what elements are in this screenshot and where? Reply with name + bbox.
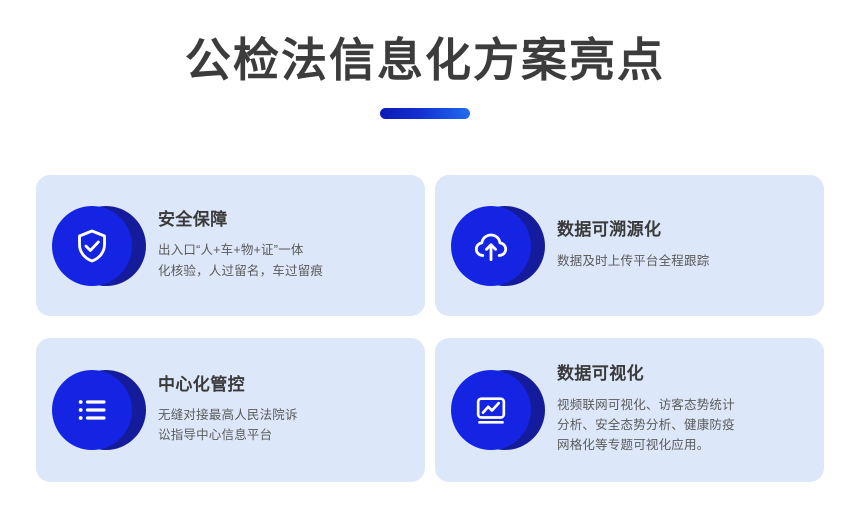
card-description: 出入口“人+车+物+证”一体 化核验，人过留名，车过留痕 <box>158 240 323 281</box>
card-title: 安全保障 <box>158 210 323 230</box>
card-text: 数据可溯源化 数据及时上传平台全程跟踪 <box>557 220 719 271</box>
card-text: 安全保障 出入口“人+车+物+证”一体 化核验，人过留名，车过留痕 <box>158 210 333 281</box>
feature-card-security[interactable]: 安全保障 出入口“人+车+物+证”一体 化核验，人过留名，车过留痕 <box>36 175 425 316</box>
chart-monitor-icon <box>471 390 511 430</box>
icon-front-circle <box>52 206 132 286</box>
card-text: 数据可视化 视频联网可视化、访客态势统计 分析、安全态势分析、健康防疫 网格化等… <box>557 364 745 455</box>
icon-badge <box>52 204 140 288</box>
icon-front-circle <box>52 370 132 450</box>
feature-cards-grid: 安全保障 出入口“人+车+物+证”一体 化核验，人过留名，车过留痕 数据可溯源化… <box>36 175 824 482</box>
card-description: 数据及时上传平台全程跟踪 <box>557 251 709 271</box>
icon-badge <box>451 368 539 452</box>
feature-card-data-traceability[interactable]: 数据可溯源化 数据及时上传平台全程跟踪 <box>435 175 824 316</box>
card-title: 数据可视化 <box>557 364 735 384</box>
icon-badge <box>52 368 140 452</box>
card-title: 数据可溯源化 <box>557 220 709 240</box>
feature-card-data-visualization[interactable]: 数据可视化 视频联网可视化、访客态势统计 分析、安全态势分析、健康防疫 网格化等… <box>435 338 824 482</box>
card-description: 视频联网可视化、访客态势统计 分析、安全态势分析、健康防疫 网格化等专题可视化应… <box>557 395 735 456</box>
page-title: 公检法信息化方案亮点 <box>0 34 850 87</box>
icon-front-circle <box>451 206 531 286</box>
shield-check-icon <box>72 226 112 266</box>
page-header: 公检法信息化方案亮点 <box>0 0 850 119</box>
icon-front-circle <box>451 370 531 450</box>
list-icon <box>72 390 112 430</box>
cloud-upload-icon <box>470 225 512 267</box>
icon-badge <box>451 204 539 288</box>
feature-card-centralized-control[interactable]: 中心化管控 无缝对接最高人民法院诉 讼指导中心信息平台 <box>36 338 425 482</box>
card-text: 中心化管控 无缝对接最高人民法院诉 讼指导中心信息平台 <box>158 375 308 446</box>
card-title: 中心化管控 <box>158 375 298 395</box>
title-underline-bar <box>380 108 470 119</box>
card-description: 无缝对接最高人民法院诉 讼指导中心信息平台 <box>158 405 298 446</box>
